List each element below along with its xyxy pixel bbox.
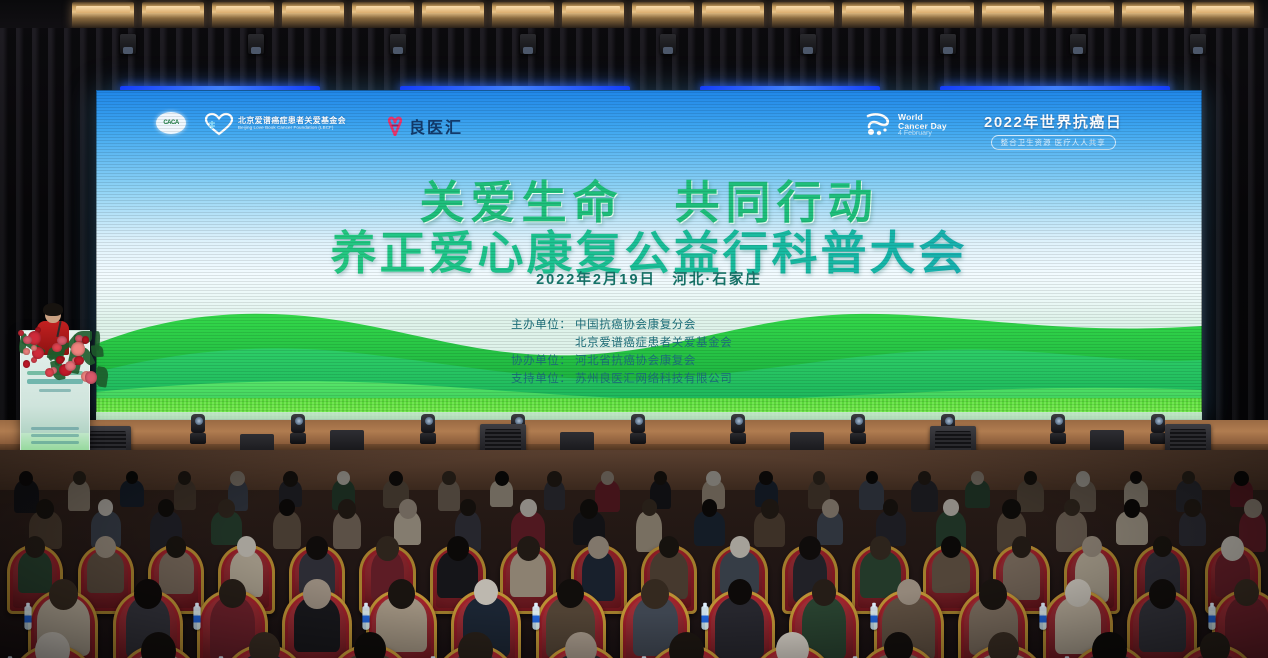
water-bottle [194,606,201,629]
audience-member-head [728,579,752,605]
audience-member-head [1024,471,1037,485]
light-head [631,414,645,433]
podium-banner-subtitle [39,389,71,392]
hanging-stage-light [800,34,816,54]
wcd-cn-title: 2022年世界抗癌日 [984,111,1122,132]
audience-member-head [897,579,921,605]
audience-member-head [580,499,598,519]
audience-member-head [1234,471,1248,487]
audience-member-head [813,471,826,485]
moving-head-light [730,414,746,444]
podium-banner-org3 [31,441,79,444]
ceiling-light-panel [1192,2,1254,28]
ceiling-light-panel [352,2,414,28]
light-lens [295,417,303,425]
light-head [191,414,205,433]
ceiling-light-panel [142,2,204,28]
ceiling-light-panel [562,2,624,28]
audience-member-head [219,579,245,607]
audience-member-body [715,597,765,658]
moving-head-light [630,414,646,444]
led-stage-screen: CACA 北京爱谱癌症患者关爱基金会 Beijing Love Book Can… [96,90,1202,420]
audience-seating [0,450,1268,658]
audience-member-head [730,536,750,557]
audience-member-head [1153,536,1172,557]
light-base [630,433,646,444]
audience-member [760,625,826,658]
conference-hall-photo: CACA 北京爱谱癌症患者关爱基金会 Beijing Love Book Can… [0,0,1268,658]
light-lens [735,417,743,425]
audience-member-head [1149,579,1177,609]
audience-member-head [1002,499,1020,519]
audience-member-head [1064,499,1080,516]
flower-bloom [71,342,84,355]
audience-member-head [73,471,86,485]
ceiling-light-panel [702,2,764,28]
audience-member-head [883,499,898,515]
awareness-ribbon-icon [386,116,404,136]
organizer-value: 北京爱谱癌症患者关爱基金会 [575,334,787,350]
light-head [731,414,745,433]
organizer-row: 支持单位：苏州良医汇网络科技有限公司 [511,370,787,386]
audience-member-head [1124,499,1141,517]
audience-member-head [141,632,176,658]
ceiling-light-panel [772,2,834,28]
audience-member-head [354,632,386,658]
foundation-logo: 北京爱谱癌症患者关爱基金会 Beijing Love Book Cancer F… [204,112,346,136]
audience-member-head [303,579,330,608]
audience-member-head [126,471,138,484]
audience-member-head [1200,632,1230,658]
moving-head-light [1150,414,1166,444]
light-head [851,414,865,433]
podium-banner-org1 [31,427,79,430]
light-lens [1055,417,1063,425]
audience-member-head [799,536,821,560]
world-cancer-day-icon [864,112,892,138]
organizer-value: 中国抗癌协会康复分会 [575,316,787,332]
moving-head-light [190,414,206,444]
hanging-stage-light [120,34,136,54]
light-lens [635,417,643,425]
audience-member-head [460,499,475,516]
heart-icon [204,112,234,136]
audience-member-head [547,471,562,487]
light-base [190,433,206,444]
audience-member [337,625,403,658]
ceiling-light-panel [492,2,554,28]
wcd-cn-tagline: 整合卫生资源 医疗人人共享 [991,135,1116,150]
moving-head-light [290,414,306,444]
audience-member-head [918,471,931,485]
flower-bloom [23,336,31,344]
audience-member-head [495,471,509,486]
audience-member-body [120,480,144,507]
audience-member-head [1012,536,1032,557]
ceiling-light-panel [842,2,904,28]
organizer-label: 协办单位： [511,352,575,368]
audience-member-head [642,499,657,515]
light-lens [945,417,953,425]
audience-member-head [283,471,298,487]
audience-member-head [943,499,958,516]
audience-member-head [517,536,540,561]
audience-member-head [1130,471,1142,484]
moving-head-light [850,414,866,444]
ceiling-light-panel [72,2,134,28]
ceiling-light-panel [1122,2,1184,28]
audience-member [443,625,509,658]
audience-member-head [988,632,1019,658]
audience-member [1182,625,1248,658]
flower-bloom [23,348,29,354]
liangyihui-logo: 良医汇 [386,114,463,138]
audience-member [654,625,720,658]
audience-member-head [1244,499,1261,518]
wcd-line3: 4 February [898,130,947,137]
hanging-stage-light [660,34,676,54]
seal-label: CACA [163,120,178,126]
audience-member [1077,625,1143,658]
audience-member-head [279,499,295,516]
ceiling-light-panel [1052,2,1114,28]
flower-bloom [74,356,83,365]
audience-member-head [659,536,679,558]
audience-member-head [447,536,470,560]
audience-member [971,625,1037,658]
water-bottle [532,606,539,629]
light-head [1151,414,1165,433]
audience-member-head [388,579,415,609]
flower-bloom [85,371,98,384]
wcd-line2: Cancer Day [898,122,947,131]
ceiling-light-panel [982,2,1044,28]
audience-member-head [1082,536,1101,557]
audience-member-head [822,499,839,517]
caca-seal-logo: CACA [156,112,186,134]
organizer-value: 苏州良医汇网络科技有限公司 [575,370,787,386]
audience-member-head [776,632,809,658]
audience-member-head [218,499,235,517]
audience-member-head [641,579,668,609]
audience-member-head [134,579,162,609]
audience-member-head [458,632,492,658]
ceiling-light-panel [912,2,974,28]
sponsor-logo-row: CACA 北京爱谱癌症患者关爱基金会 Beijing Love Book Can… [96,108,1202,148]
floral-arrangement [6,318,102,388]
audience-member-head [35,632,70,658]
world-cancer-day-text: World Cancer Day 4 February [898,113,947,137]
audience-member-head [1092,632,1126,658]
audience-member [548,625,614,658]
hanging-stage-light [1190,34,1206,54]
audience-member-head [306,536,328,560]
light-head [1051,414,1065,433]
hanging-stage-light [248,34,264,54]
light-lens [1155,417,1163,425]
audience-member-head [870,536,892,559]
light-base [1150,433,1166,444]
seal-icon: CACA [156,112,186,134]
audience-member-head [565,632,597,658]
audience-member [231,625,297,658]
light-base [1050,433,1066,444]
audience-member-head [1065,579,1091,607]
audience-member-head [866,471,878,484]
audience-member-head [941,536,961,558]
moving-head-light [1050,414,1066,444]
audience-member-head [237,536,256,557]
light-lens [195,417,203,425]
audience-member [126,625,192,658]
organizer-row: 北京爱谱癌症患者关爱基金会 [511,334,787,350]
audience-member-head [442,471,455,485]
audience-member-head [166,536,186,558]
organizer-value: 河北省抗癌协会康复会 [575,352,787,368]
audience-member-head [812,579,836,605]
event-date-location: 2022年2月19日 河北·石家庄 [96,268,1202,289]
flower-bloom [56,356,64,364]
hanging-stage-light [520,34,536,54]
ceiling-light-panel [632,2,694,28]
flower-bloom [23,360,31,368]
audience-member-head [669,632,704,658]
light-lens [855,417,863,425]
water-bottle [1039,606,1046,629]
moving-head-light [420,414,436,444]
organizer-list: 主办单位：中国抗癌协会康复分会北京爱谱癌症患者关爱基金会协办单位：河北省抗癌协会… [96,316,1202,386]
audience-member-head [474,579,498,605]
audience-member-head [1182,471,1195,485]
audience-member-head [49,579,78,610]
light-base [850,433,866,444]
audience-member-head [1076,471,1091,487]
light-head [291,414,305,433]
audience-member-head [759,471,772,485]
ceiling-light-panel [282,2,344,28]
organizer-row: 协办单位：河北省抗癌协会康复会 [511,352,787,368]
organizer-row: 主办单位：中国抗癌协会康复分会 [511,316,787,332]
presenter-hair [43,303,63,316]
organizer-label: 主办单位： [511,316,575,332]
foundation-name-block: 北京爱谱癌症患者关爱基金会 Beijing Love Book Cancer F… [238,117,346,130]
hanging-stage-light [940,34,956,54]
audience-member-head [1184,499,1200,516]
audience-member-head [702,499,718,516]
hanging-stage-light [1070,34,1086,54]
audience-member [865,625,931,658]
ceiling-light-panel [212,2,274,28]
hanging-stage-light [390,34,406,54]
light-lens [425,417,433,425]
light-base [730,433,746,444]
audience-member-head [520,499,536,517]
organizer-label [511,334,575,350]
audience-member-head [761,499,779,518]
flower-bloom [82,336,89,343]
audience-member-head [249,632,280,658]
light-base [420,433,436,444]
audience-member-head [706,471,721,487]
light-head [421,414,435,433]
audience-member-head [884,632,913,658]
organizer-label: 支持单位： [511,370,575,386]
audience-member-head [376,536,399,561]
audience-member-head [399,499,417,519]
world-cancer-day-logo: World Cancer Day 4 February [864,112,947,138]
ceiling-light-panel [422,2,484,28]
foundation-name-en: Beijing Love Book Cancer Foundation (LBC… [238,126,346,131]
podium-banner-org2 [31,434,79,437]
world-cancer-day-cn-block: 2022年世界抗癌日 整合卫生资源 医疗人人共享 [984,111,1122,150]
light-base [290,433,306,444]
liangyihui-name: 良医汇 [409,114,463,138]
audience-member [20,625,86,658]
